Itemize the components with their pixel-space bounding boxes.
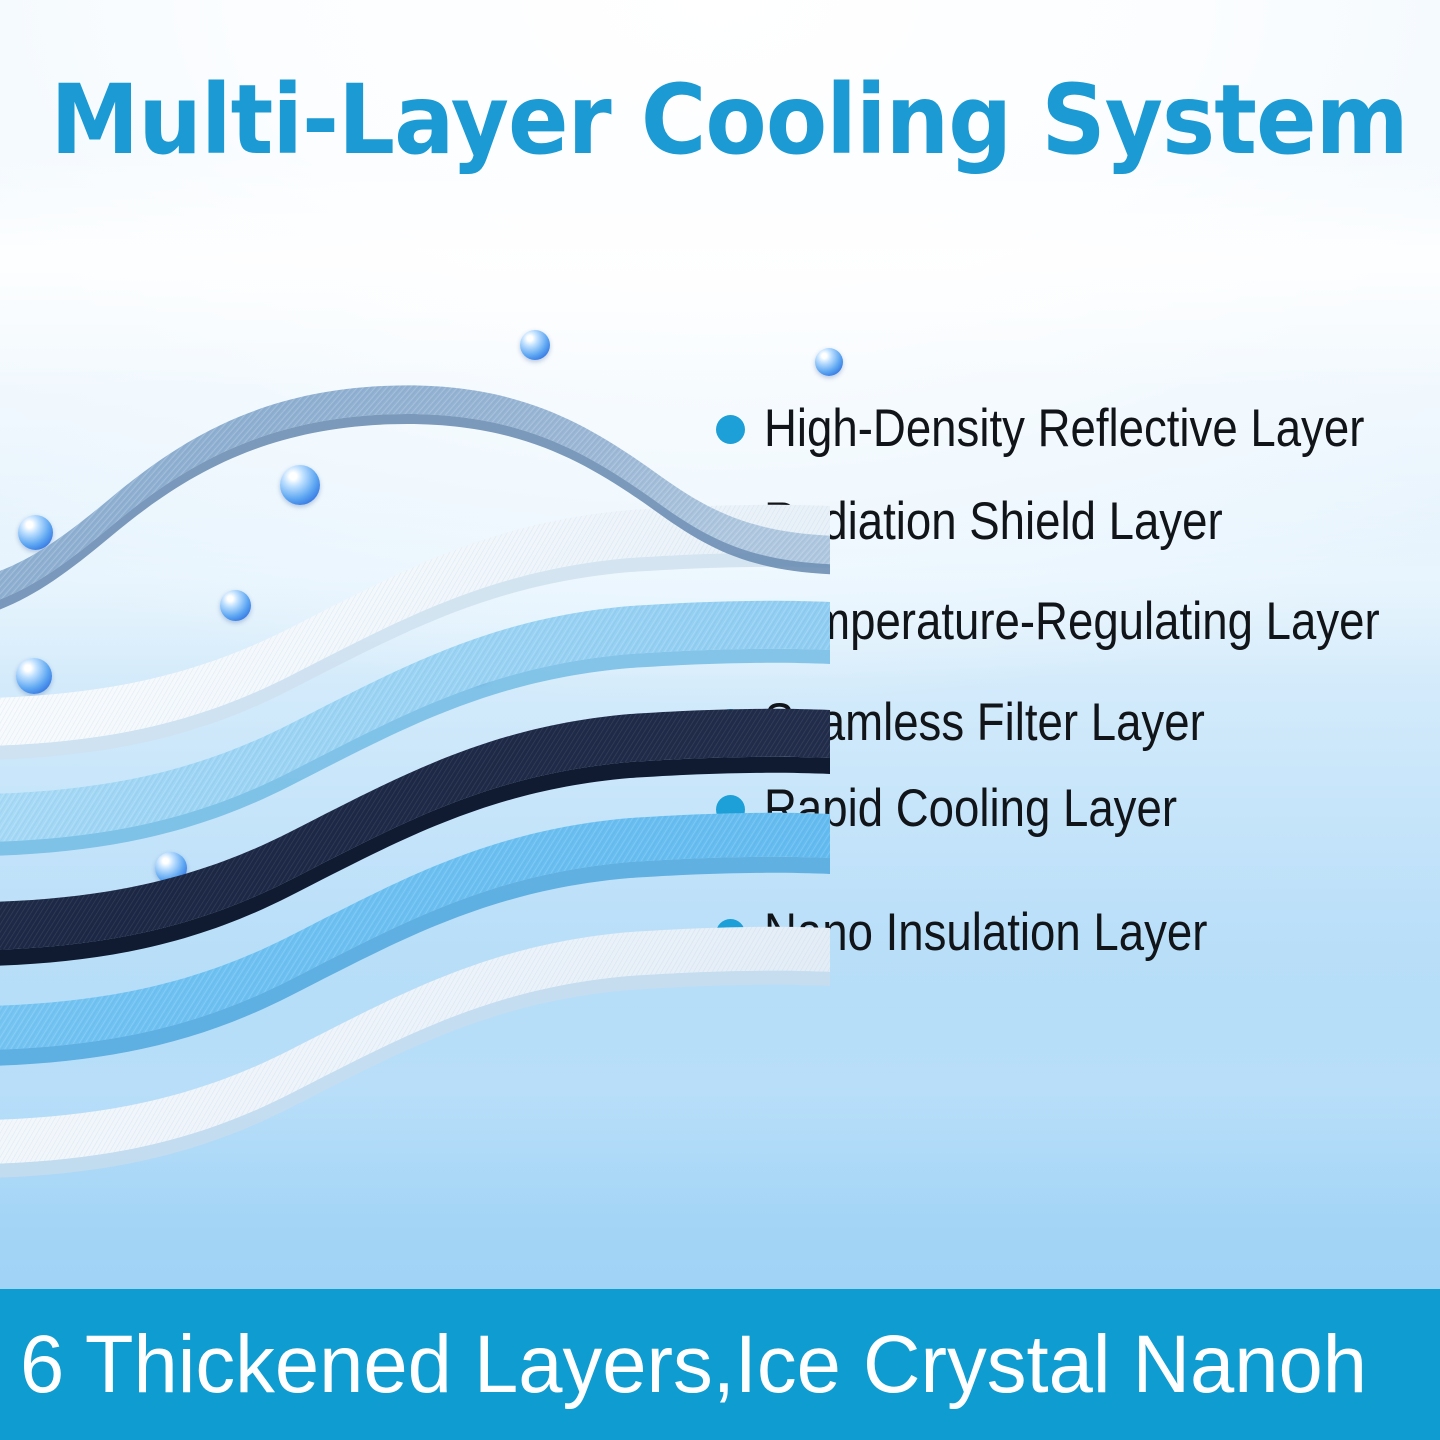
product-infographic-poster: Multi-Layer Cooling System: [0, 0, 1440, 1440]
feature-label: Temperature-Regulating Layer: [764, 594, 1380, 650]
cooling-bead: [520, 330, 550, 360]
fabric-layer-high-density-reflective: [0, 370, 830, 790]
feature-label: Seamless Filter Layer: [764, 695, 1205, 751]
feature-label: Nano Insulation Layer: [764, 905, 1207, 961]
page-title: Multi-Layer Cooling System: [50, 72, 1389, 170]
feature-label: Radiation Shield Layer: [764, 494, 1223, 550]
bottom-banner: 6 Thickened Layers,Ice Crystal Nanoh: [0, 1289, 1440, 1440]
feature-label: High-Density Reflective Layer: [764, 401, 1364, 457]
layered-fabric-illustration: [0, 300, 830, 1230]
banner-headline: 6 Thickened Layers,Ice Crystal Nanoh: [20, 1322, 1367, 1408]
